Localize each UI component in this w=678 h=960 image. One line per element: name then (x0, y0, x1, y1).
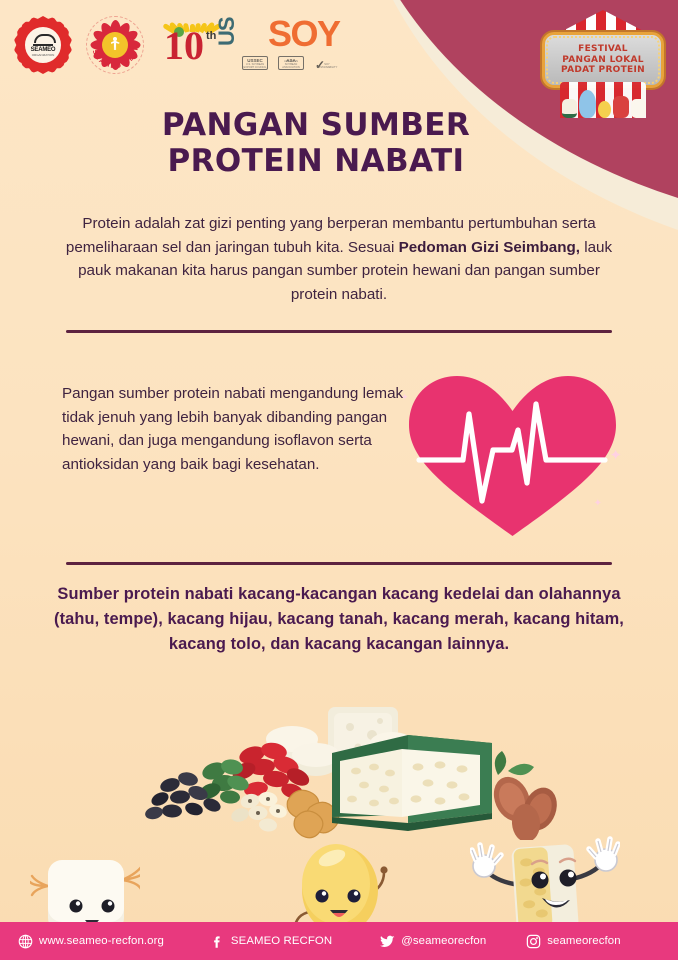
seameo-recfon-logo: SEAMEO RECFON (86, 16, 144, 74)
title-line-1: PANGAN SUMBER (0, 108, 632, 144)
logo-row: SEAMEO ORGANIZATION SEAMEO RECFON 10 th (14, 16, 358, 74)
sustainability-caption: SOY SUSTAINABILITY (314, 63, 340, 69)
sparkle-icon-2: ✦ (594, 498, 602, 509)
festival-fish-mascot (579, 90, 597, 118)
instagram-icon (526, 934, 541, 949)
benefits-paragraph: Pangan sumber protein nabati mengandung … (62, 382, 404, 476)
almonds-illustration (487, 751, 560, 840)
intro-paragraph: Protein adalah zat gizi penting yang ber… (62, 212, 616, 306)
facebook-icon (210, 934, 225, 949)
ussec-logo: USSEC U.S. SOYBEAN EXPORT COUNCIL (242, 56, 268, 70)
sparkle-icon-3: ✦ (401, 392, 409, 403)
festival-badge: FESTIVAL PANGAN LOKAL PADAT PROTEIN (542, 10, 664, 118)
us-soy-sublogos: USSEC U.S. SOYBEAN EXPORT COUNCIL ASA AM… (242, 56, 340, 70)
sparkle-icon-1: ✦ (609, 446, 622, 464)
footer-instagram[interactable]: seameorecfon (526, 934, 620, 949)
globe-icon (18, 934, 33, 949)
footer-twitter-text: @seameorecfon (401, 935, 486, 947)
heart-with-heartbeat-icon (405, 368, 620, 543)
poster-canvas: SEAMEO ORGANIZATION SEAMEO RECFON 10 th (0, 0, 678, 960)
anniversary-number: 10 (164, 26, 204, 66)
heart-illustration: ✦ ✦ ✦ (405, 368, 620, 543)
seameo-emblem-icon (33, 33, 53, 46)
asa-logo: ASA AMERICAN SOYBEAN ASSOCIATION (278, 56, 304, 70)
food-illustration (140, 705, 560, 840)
tempe-block-illustration (332, 735, 492, 831)
seameo-logo-subtext: ORGANIZATION (32, 53, 55, 57)
footer-twitter[interactable]: @seameorecfon (380, 934, 486, 949)
us-soy-logo: US SOY USSEC U.S. SOYBEAN EXPORT COUNCIL… (240, 16, 358, 74)
festival-line-2: PANGAN LOKAL (561, 55, 645, 66)
footer-instagram-text: seameorecfon (547, 935, 620, 947)
footer-bar: www.seameo-recfon.org SEAMEO RECFON @sea… (0, 922, 678, 960)
asa-caption: AMERICAN SOYBEAN ASSOCIATION (278, 60, 304, 69)
footer-website-text: www.seameo-recfon.org (39, 935, 164, 947)
tofu-mascot (30, 836, 140, 932)
festival-board-text: FESTIVAL PANGAN LOKAL PADAT PROTEIN (561, 44, 645, 77)
seameo-logo-inner: SEAMEO ORGANIZATION (23, 25, 63, 65)
svg-text:SEAMEO RECFON: SEAMEO RECFON (86, 16, 140, 70)
left-glove-icon (472, 845, 501, 877)
page-title: PANGAN SUMBER PROTEIN NABATI (0, 108, 678, 179)
tempe-mascot (470, 828, 620, 932)
festival-line-3: PADAT PROTEIN (561, 65, 645, 76)
footer-facebook[interactable]: SEAMEO RECFON (210, 934, 332, 949)
sources-paragraph: Sumber protein nabati kacang-kacangan ka… (48, 582, 630, 657)
recfon-circular-text: SEAMEO RECFON (86, 16, 144, 74)
footer-facebook-text: SEAMEO RECFON (231, 935, 332, 947)
festival-tofu-mascot (631, 99, 646, 118)
title-line-2: PROTEIN NABATI (0, 144, 632, 180)
soybean-mascot (288, 838, 392, 932)
seameo-logo: SEAMEO ORGANIZATION (14, 16, 72, 74)
right-glove-icon (589, 839, 618, 871)
intro-text-bold: Pedoman Gizi Seimbang, (399, 239, 580, 256)
festival-tempe-mascot (562, 99, 577, 118)
festival-mascot-group (562, 84, 646, 118)
us-soy-soy-text: SOY (268, 16, 340, 52)
festival-meat-mascot (613, 96, 629, 118)
festival-marquee-board: FESTIVAL PANGAN LOKAL PADAT PROTEIN (542, 32, 664, 88)
soy-sustainability-logo: ✓ SOY SUSTAINABILITY (314, 56, 340, 70)
divider-bottom (66, 562, 612, 565)
festival-line-1: FESTIVAL (561, 44, 645, 55)
divider-top (66, 330, 612, 333)
twitter-icon (380, 934, 395, 949)
us-soy-us-text: US (214, 17, 240, 46)
festival-bean-mascot (598, 101, 611, 118)
footer-website[interactable]: www.seameo-recfon.org (18, 934, 164, 949)
ussec-caption: U.S. SOYBEAN EXPORT COUNCIL (242, 63, 268, 69)
